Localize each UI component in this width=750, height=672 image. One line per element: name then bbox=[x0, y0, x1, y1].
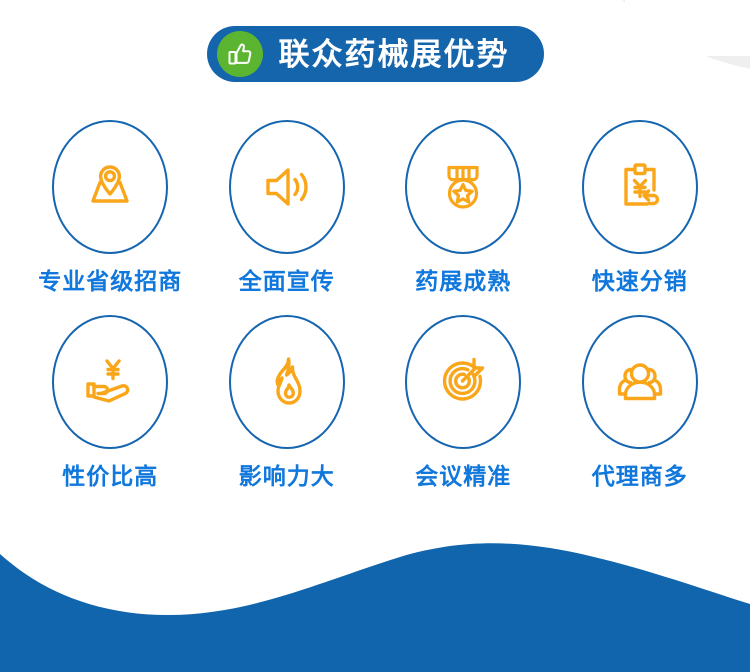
feature-item[interactable]: 全面宣传 bbox=[199, 120, 376, 293]
flame-fire-icon bbox=[229, 315, 345, 449]
feature-item[interactable]: 性价比高 bbox=[22, 315, 199, 488]
medal-star-icon bbox=[405, 120, 521, 254]
feature-label: 专业省级招商 bbox=[38, 270, 182, 293]
feature-label: 会议精准 bbox=[415, 465, 511, 488]
feature-grid: 专业省级招商 全面宣传 bbox=[0, 120, 750, 488]
bottom-wave-decoration bbox=[0, 512, 750, 672]
hand-holding-yuan-icon bbox=[52, 315, 168, 449]
feature-label: 影响力大 bbox=[239, 465, 335, 488]
thumbs-up-icon bbox=[217, 31, 263, 77]
feature-label: 代理商多 bbox=[592, 465, 688, 488]
speaker-megaphone-icon bbox=[229, 120, 345, 254]
promo-poster: 联众药械展优势 专业省级招商 bbox=[0, 0, 750, 672]
feature-label: 快速分销 bbox=[592, 270, 688, 293]
feature-item[interactable]: 药展成熟 bbox=[375, 120, 552, 293]
map-location-pin-icon bbox=[52, 120, 168, 254]
target-dart-arrow-icon bbox=[405, 315, 521, 449]
feature-item[interactable]: 影响力大 bbox=[199, 315, 376, 488]
clipboard-yuan-refresh-icon bbox=[582, 120, 698, 254]
banner-title: 联众药械展优势 bbox=[279, 39, 510, 70]
group-people-icon bbox=[582, 315, 698, 449]
feature-item[interactable]: 快速分销 bbox=[552, 120, 729, 293]
feature-label: 性价比高 bbox=[62, 465, 158, 488]
feature-item[interactable]: 会议精准 bbox=[375, 315, 552, 488]
header-banner-wrap: 联众药械展优势 bbox=[0, 26, 750, 82]
feature-item[interactable]: 代理商多 bbox=[552, 315, 729, 488]
feature-label: 全面宣传 bbox=[239, 270, 335, 293]
header-banner: 联众药械展优势 bbox=[207, 26, 544, 82]
feature-item[interactable]: 专业省级招商 bbox=[22, 120, 199, 293]
feature-label: 药展成熟 bbox=[415, 270, 511, 293]
